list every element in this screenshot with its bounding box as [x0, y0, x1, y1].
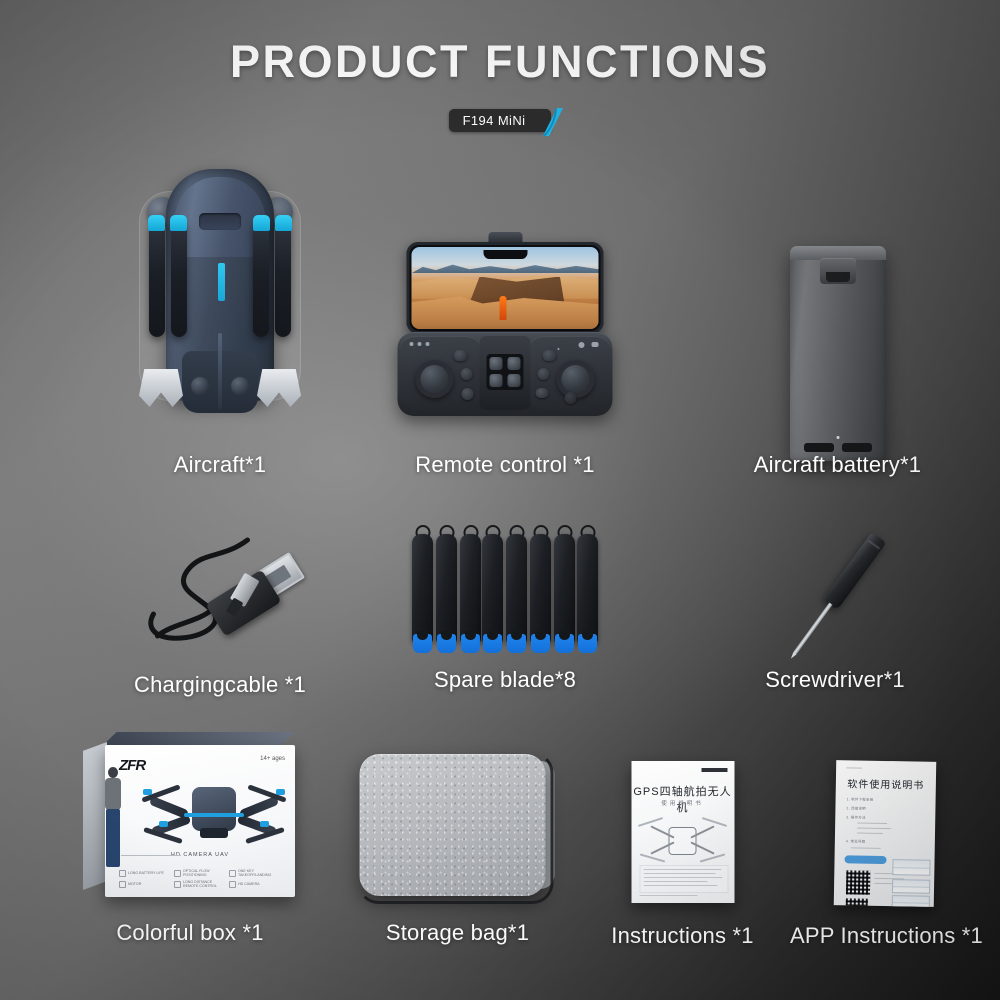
drone-icon [60, 155, 380, 485]
box-feature-item: HD CAMERA [229, 880, 278, 888]
item-remote-control: Remote control *1 [390, 230, 620, 485]
box-feature-item: MOTOR [119, 880, 168, 888]
item-charging-cable: Chargingcable *1 [95, 510, 345, 700]
battery-icon [730, 230, 945, 485]
box-age-mark: 14+ ages [260, 756, 285, 762]
caption-battery: Aircraft battery*1 [730, 452, 945, 478]
item-colorful-box: ZFR 14+ ages [60, 728, 320, 958]
item-battery: Aircraft battery*1 [730, 230, 945, 485]
box-drone-graphic [141, 773, 287, 847]
model-badge-label: F194 MiNi [463, 113, 526, 128]
remote-control-icon [390, 230, 620, 485]
item-spare-blade: Spare blade*8 [390, 505, 620, 700]
item-instructions: GPS四轴航拍无人机 使用说明书 [600, 755, 765, 960]
item-screwdriver: Screwdriver*1 [720, 505, 950, 700]
caption-app-instructions: APP Instructions *1 [790, 923, 980, 949]
item-storage-bag: Storage bag*1 [350, 745, 565, 960]
item-aircraft: Aircraft*1 [60, 155, 380, 485]
caption-storage-bag: Storage bag*1 [350, 920, 565, 946]
box-feature-list: LONG BATTERY LIFE OPTICAL FLOW POSITIONI… [119, 869, 283, 888]
app-manual-title: 软件使用说明书 [836, 775, 936, 792]
app-bullet: 4. 常见问题 [846, 838, 866, 843]
item-app-instructions: 软件使用说明书 1. 软件下载安装 2. 连接说明 3. 操作方法 4. 常见问… [790, 755, 980, 960]
model-badge-wrapper: F194 MiNi [0, 109, 1000, 132]
box-feature-item: LONG BATTERY LIFE [119, 869, 168, 877]
model-badge: F194 MiNi [449, 109, 552, 132]
phone-preview [407, 242, 604, 334]
box-feature-item: LONG DISTANCE REMOTE CONTROL [174, 880, 223, 888]
page-title: PRODUCT FUNCTIONS [0, 36, 1000, 88]
caption-colorful-box: Colorful box *1 [60, 920, 320, 946]
app-pill [844, 855, 886, 864]
caption-spare-blade: Spare blade*8 [390, 667, 620, 693]
box-feature-item: OPTICAL FLOW POSITIONING [174, 869, 223, 877]
manual-subtitle: 使用说明书 [631, 799, 734, 807]
box-feature-item: ONE KEY TAKEOFF/LANDING [229, 869, 278, 877]
product-functions-infographic: PRODUCT FUNCTIONS F194 MiNi [0, 0, 1000, 1000]
app-bullet: 3. 操作方法 [846, 814, 866, 819]
caption-instructions: Instructions *1 [600, 923, 765, 949]
caption-remote-control: Remote control *1 [390, 452, 620, 478]
app-bullet: 1. 软件下载安装 [847, 796, 874, 801]
caption-charging-cable: Chargingcable *1 [95, 672, 345, 698]
caption-screwdriver: Screwdriver*1 [720, 667, 950, 693]
app-bullet: 2. 连接说明 [846, 805, 866, 810]
caption-aircraft: Aircraft*1 [60, 452, 380, 478]
badge-swoosh-icon [541, 107, 563, 137]
manual-drone-graphic [640, 813, 726, 861]
